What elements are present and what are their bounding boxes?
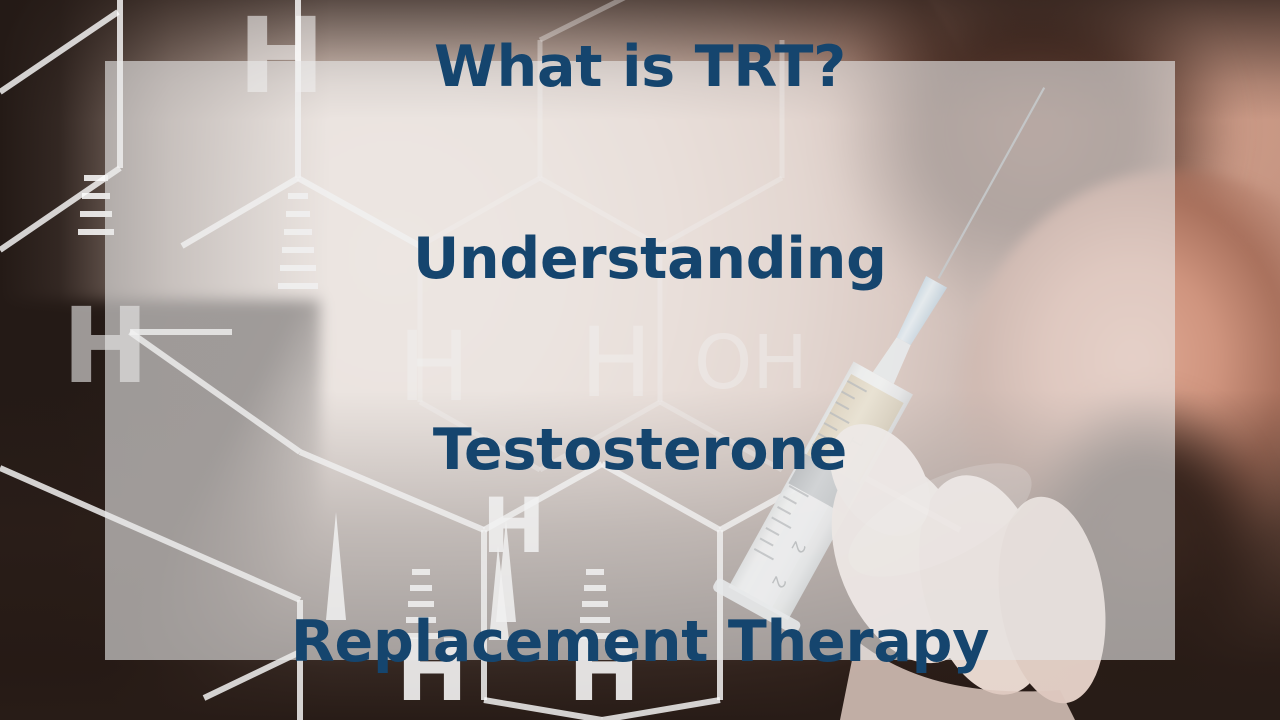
hero-banner: .bond { stroke:#ffffff; stroke-width:6; …	[0, 0, 1280, 720]
title-line-4: Replacement Therapy	[291, 611, 989, 675]
hero-title-container: What is TRT? Understanding Testosterone …	[105, 61, 1175, 660]
title-line-3: Testosterone	[291, 419, 989, 483]
title-line-2: Understanding	[291, 228, 989, 292]
title-line-1: What is TRT?	[291, 36, 989, 100]
page-title: What is TRT? Understanding Testosterone …	[291, 0, 989, 720]
